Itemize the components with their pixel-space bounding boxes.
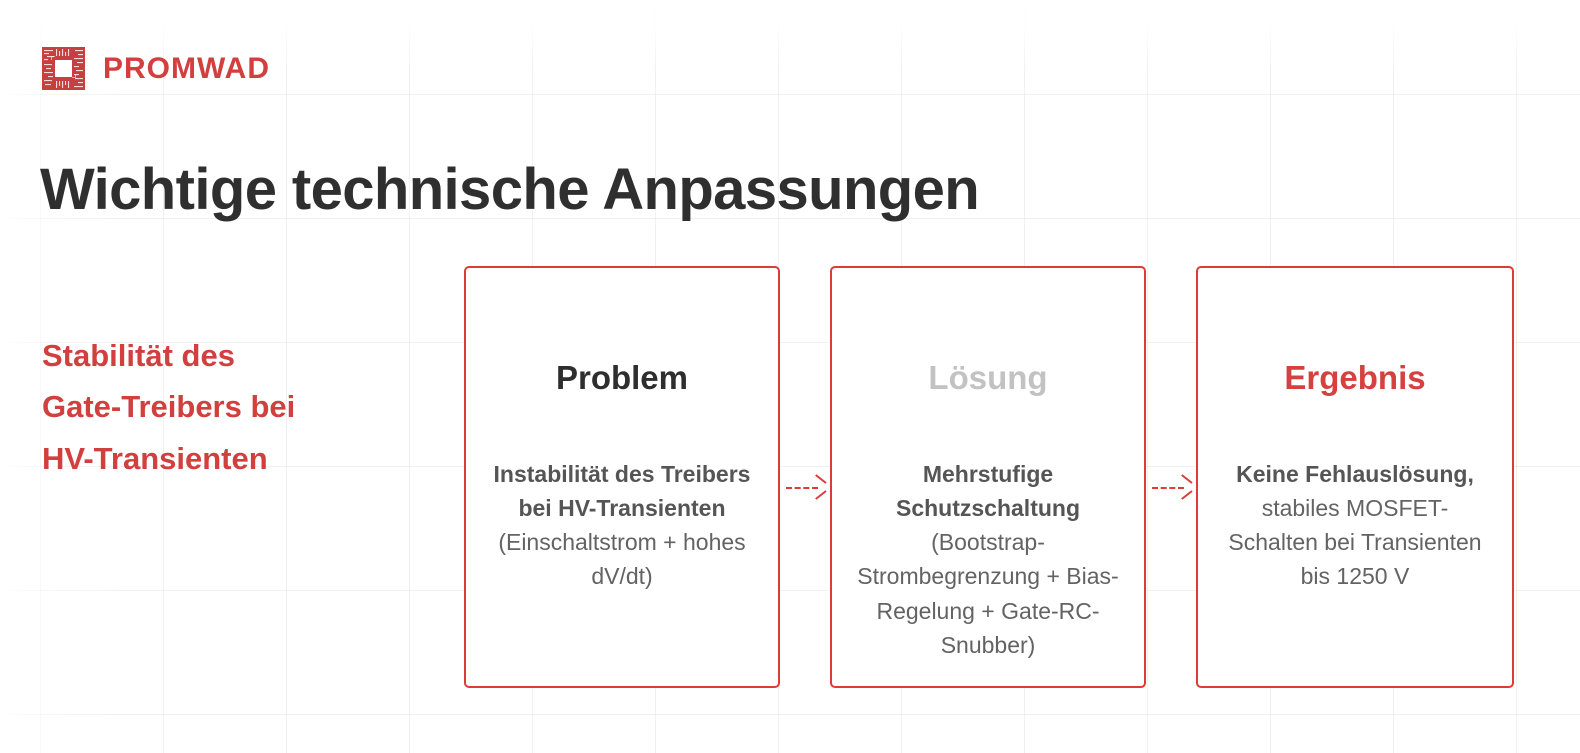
- circuit-chip-icon: [42, 47, 85, 90]
- flow-card-heading: Ergebnis: [1218, 358, 1492, 398]
- flow-card-heading: Problem: [486, 358, 758, 398]
- arrow-head: [1178, 479, 1194, 495]
- flow-card-problem[interactable]: Problem Instabilität des Treibers bei HV…: [464, 266, 780, 688]
- flow-card-body-strong: Instabilität des Treibers bei HV-Transie…: [494, 461, 751, 521]
- dashed-arrow-right-icon: [780, 487, 830, 489]
- arrow-head: [812, 479, 828, 495]
- flow-card-body-strong: Keine Fehlauslösung,: [1236, 461, 1474, 487]
- flow-card-body: Keine Fehlauslösung, stabiles MOSFET-Sch…: [1218, 457, 1492, 594]
- flow-card-body-strong: Mehrstufige Schutzschaltung: [896, 461, 1080, 521]
- flow-card-loesung[interactable]: Lösung Mehrstufige Schutzschaltung (Boot…: [830, 266, 1146, 688]
- flow-card-heading: Lösung: [852, 358, 1124, 398]
- row-label: Stabilität des Gate-Treibers bei HV-Tran…: [42, 330, 310, 484]
- brand-logo: PROMWAD: [42, 47, 270, 90]
- dashed-arrow-right-icon: [1146, 487, 1196, 489]
- flow-card-body-detail: (Einschaltstrom + hohes dV/dt): [498, 529, 745, 589]
- brand-name: PROMWAD: [103, 54, 270, 84]
- flow-card-body: Instabilität des Treibers bei HV-Transie…: [486, 457, 758, 594]
- slide-content: PROMWAD Wichtige technische Anpassungen …: [0, 0, 1580, 753]
- flow-card-body-detail: (Bootstrap-Strombegrenzung + Bias-Regelu…: [857, 529, 1118, 658]
- slide-canvas: PROMWAD Wichtige technische Anpassungen …: [0, 0, 1580, 753]
- page-title: Wichtige technische Anpassungen: [40, 160, 979, 221]
- flow-card-ergebnis[interactable]: Ergebnis Keine Fehlauslösung, stabiles M…: [1196, 266, 1514, 688]
- flow-card-body-detail: stabiles MOSFET-Schalten bei Transienten…: [1228, 495, 1481, 590]
- flow-diagram: Problem Instabilität des Treibers bei HV…: [464, 266, 1514, 688]
- flow-card-body: Mehrstufige Schutzschaltung (Bootstrap-S…: [852, 457, 1124, 663]
